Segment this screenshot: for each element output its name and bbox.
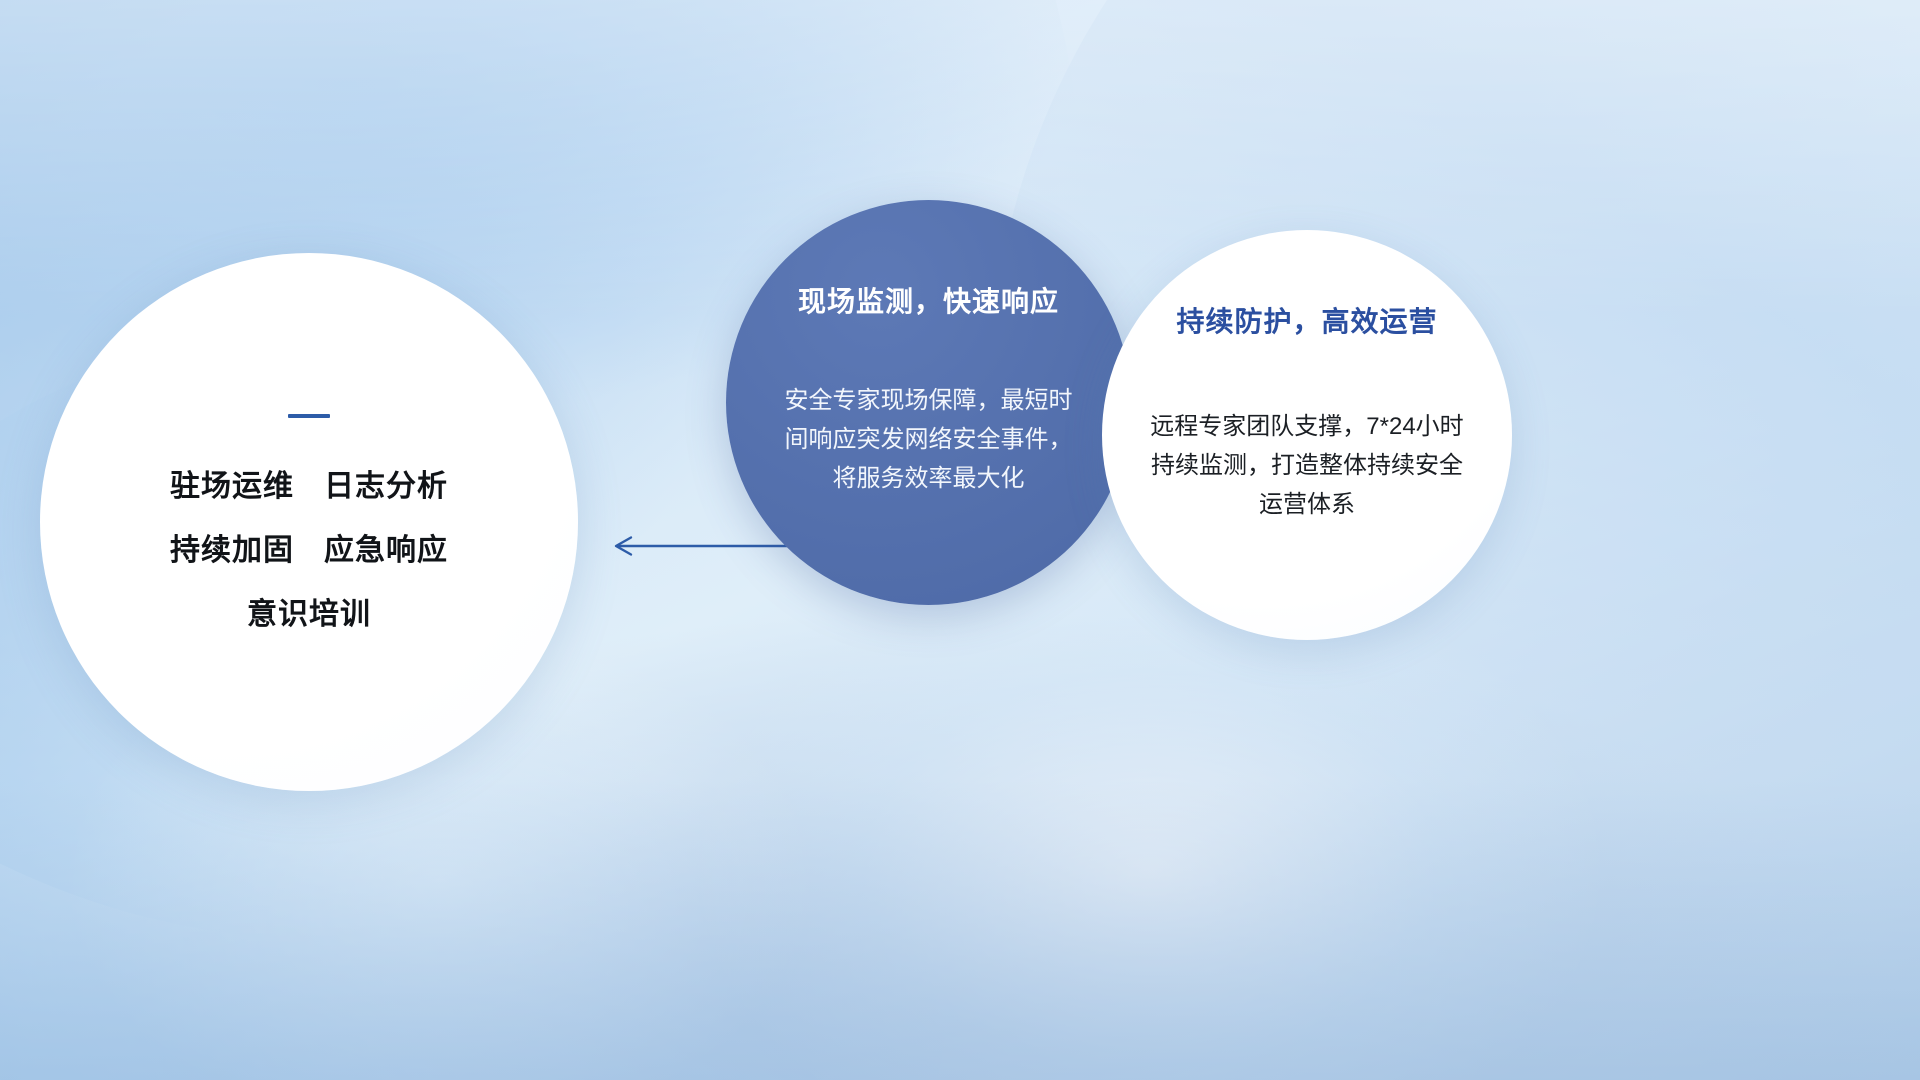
background-band-bottom	[0, 780, 1920, 1080]
continuous-protection-circle[interactable]: 持续防护，高效运营 远程专家团队支撑，7*24小时持续监测，打造整体持续安全运营…	[1102, 230, 1512, 640]
keyword-row: 持续加固 应急响应	[170, 536, 448, 566]
accent-dash-divider	[288, 414, 330, 418]
keyword-item[interactable]: 驻场运维	[170, 472, 294, 502]
keyword-row: 驻场运维 日志分析	[170, 472, 448, 502]
keyword-item[interactable]: 持续加固	[170, 536, 294, 566]
continuous-protection-heading: 持续防护，高效运营	[1176, 308, 1437, 336]
onsite-monitoring-circle[interactable]: 现场监测，快速响应 安全专家现场保障，最短时间响应突发网络安全事件，将服务效率最…	[726, 200, 1131, 605]
onsite-monitoring-body: 安全专家现场保障，最短时间响应突发网络安全事件，将服务效率最大化	[779, 382, 1079, 499]
keyword-item[interactable]: 应急响应	[324, 536, 448, 566]
continuous-protection-body: 远程专家团队支撑，7*24小时持续监测，打造整体持续安全运营体系	[1144, 408, 1470, 525]
keyword-item[interactable]: 意识培训	[247, 600, 371, 630]
keyword-row: 意识培训	[247, 600, 371, 630]
onsite-monitoring-heading: 现场监测，快速响应	[798, 288, 1059, 316]
keyword-item[interactable]: 日志分析	[324, 472, 448, 502]
service-keywords-circle[interactable]: 驻场运维 日志分析 持续加固 应急响应 意识培训	[40, 253, 578, 791]
